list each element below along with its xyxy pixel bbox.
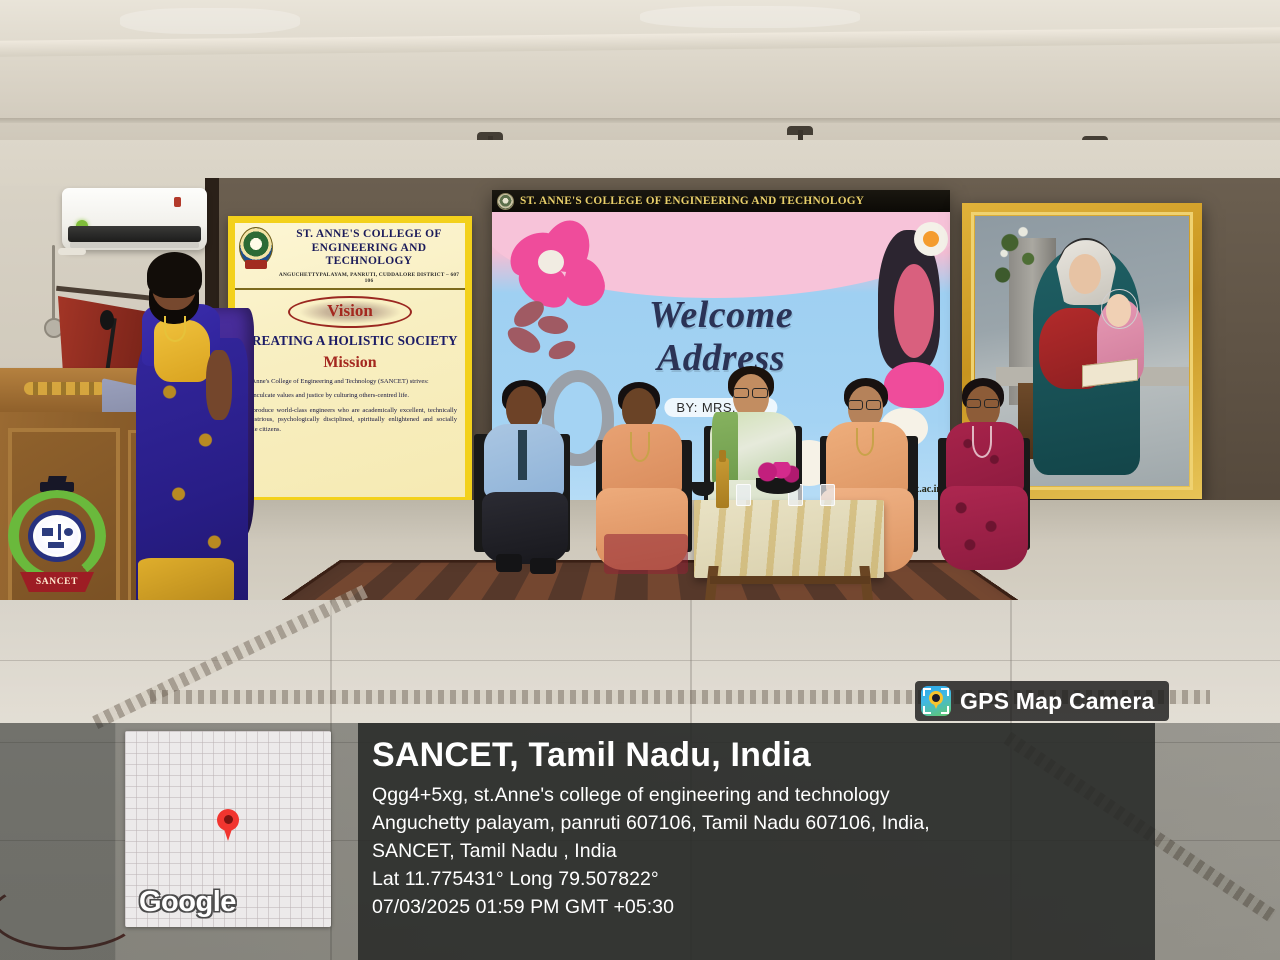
college-logo-icon	[497, 193, 514, 210]
air-conditioner-unit	[62, 188, 207, 250]
mission-point-2: To produce world-class engineers who are…	[243, 406, 457, 435]
bottle-neck	[719, 450, 726, 462]
gear-icon	[64, 528, 73, 536]
ceiling-patch	[120, 8, 300, 34]
flower-center	[538, 250, 564, 274]
seated-person	[940, 380, 1030, 576]
speaker-at-podium	[130, 258, 270, 658]
mission-point-1: To inculcate values and justice by cultu…	[243, 391, 457, 401]
slide-title: Welcome Address	[492, 294, 950, 379]
open-book-icon	[48, 542, 64, 548]
water-glass	[736, 484, 751, 506]
sancet-crest-icon: SANCET	[4, 476, 110, 596]
table-rail	[710, 576, 870, 584]
book-icon	[42, 528, 53, 536]
mission-intro: St. Anne's College of Engineering and Te…	[243, 377, 457, 387]
gps-badge-label: GPS Map Camera	[960, 688, 1155, 715]
microphone-icon	[100, 310, 114, 330]
banner-address: ANGUCHETTYPALAYAM, PANRUTI, CUDDALORE DI…	[277, 272, 461, 284]
table-cloth	[694, 500, 884, 578]
vision-label: Vision	[327, 301, 373, 321]
gps-address-line-3: SANCET, Tamil Nadu , India	[372, 838, 1152, 866]
gps-map-camera-badge[interactable]: GPS Map Camera	[915, 681, 1169, 721]
gps-address-line-1: Qgg4+5xg, st.Anne's college of engineeri…	[372, 782, 1152, 810]
google-watermark: Google	[139, 886, 236, 919]
water-bottle	[716, 458, 729, 508]
ceiling-patch	[640, 6, 860, 28]
tile-seam	[0, 660, 1280, 661]
ac-logo	[174, 197, 181, 207]
map-pin-icon	[217, 809, 239, 831]
podium-gold-trim	[24, 382, 106, 395]
gps-address-line-2: Anguchetty palayam, panruti 607106, Tami…	[372, 810, 1152, 838]
screen-header-title: ST. ANNE'S COLLEGE OF ENGINEERING AND TE…	[520, 195, 864, 207]
flower-arrangement	[757, 462, 799, 484]
seated-person	[478, 382, 570, 572]
flower-center	[923, 231, 939, 247]
gps-coordinates: Lat 11.775431° Long 79.507822°	[372, 866, 1152, 894]
slide-title-line1: Welcome	[492, 294, 950, 337]
small-bowl	[692, 482, 714, 496]
gps-camera-icon	[921, 686, 951, 716]
ac-pipe	[58, 248, 86, 255]
gps-place-title: SANCET, Tamil Nadu, India	[372, 735, 1152, 776]
necklace	[164, 316, 186, 342]
screen-header-bar: ST. ANNE'S COLLEGE OF ENGINEERING AND TE…	[492, 190, 950, 212]
gps-timestamp: 07/03/2025 01:59 PM GMT +05:30	[372, 894, 1152, 922]
banner-college-line1: ST. ANNE'S COLLEGE OF	[277, 228, 461, 242]
water-glass	[820, 484, 835, 506]
gps-location-text: SANCET, Tamil Nadu, India Qgg4+5xg, st.A…	[372, 735, 1152, 922]
map-thumbnail[interactable]: Google	[125, 731, 331, 927]
torch-icon	[58, 524, 61, 540]
photo-screenshot: ST. ANNE'S COLLEGE OF ENGINEERING AND TE…	[0, 0, 1280, 960]
sancet-ribbon-label: SANCET	[20, 572, 94, 592]
ac-wire	[52, 245, 55, 323]
seated-person	[596, 384, 692, 576]
banner-college-line2: ENGINEERING AND TECHNOLOGY	[277, 242, 461, 269]
ceiling-seam	[0, 118, 1280, 123]
